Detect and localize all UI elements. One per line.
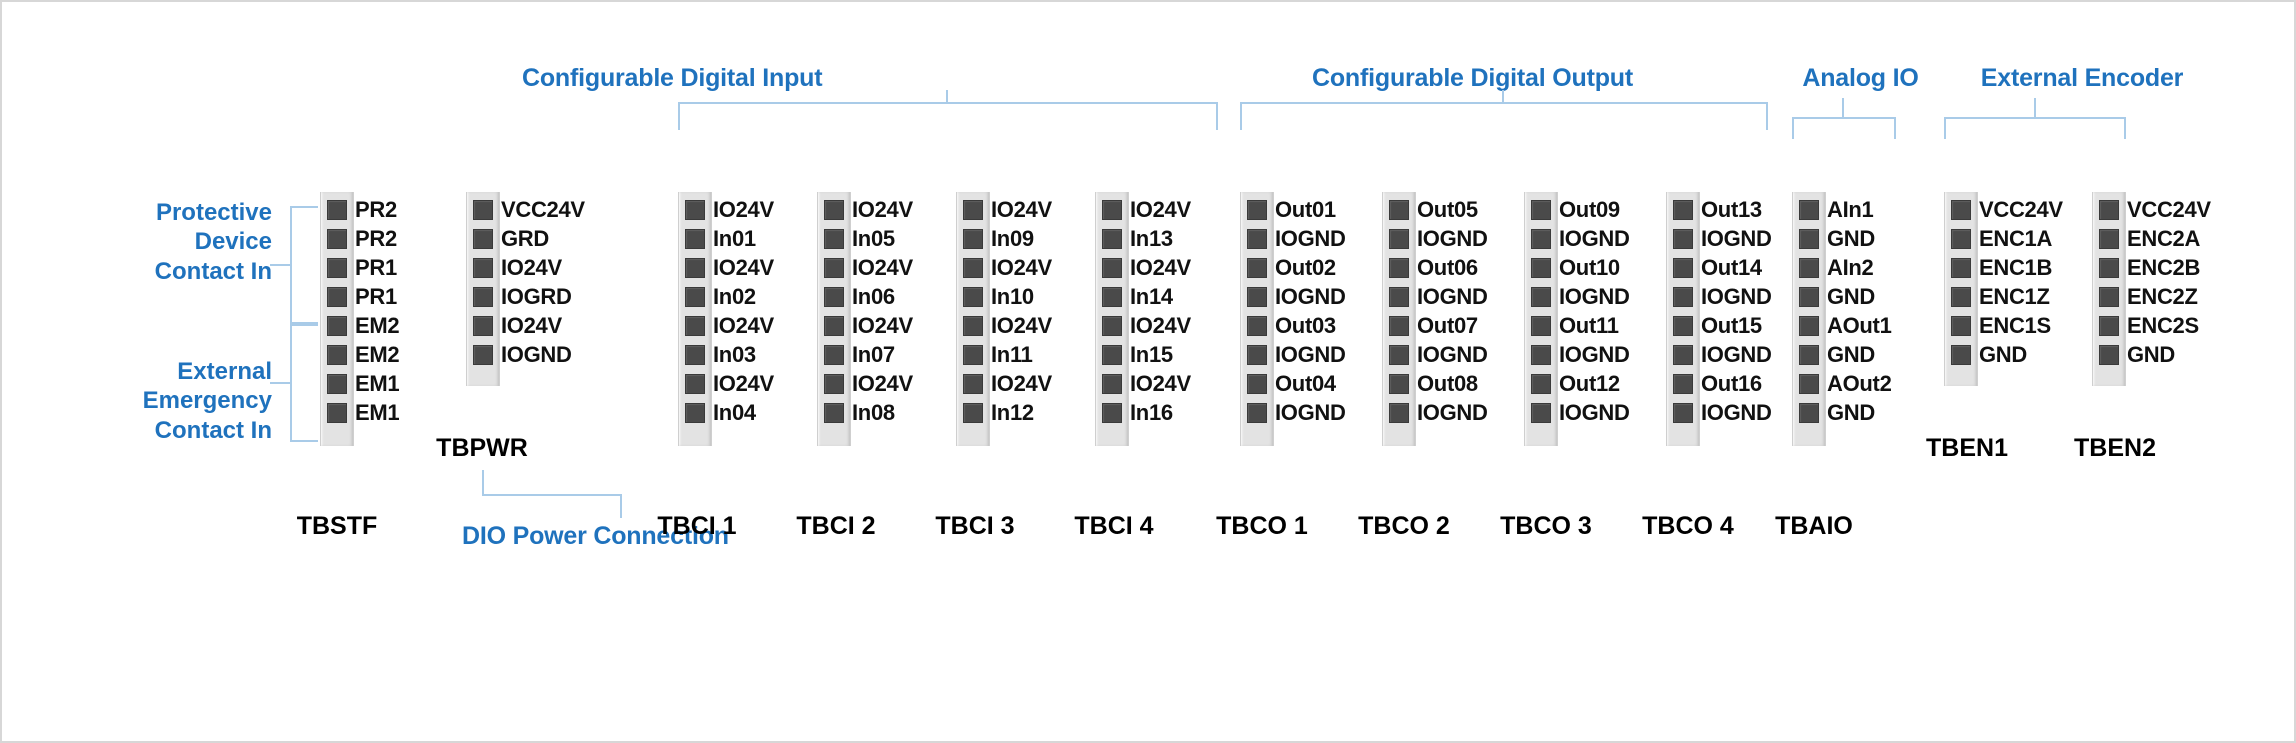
pin-label: IO24V <box>991 313 1052 339</box>
pin-row[interactable]: In04 <box>679 398 711 427</box>
pin-row[interactable]: PR2 <box>321 195 353 224</box>
pin-label: GND <box>1827 342 1875 368</box>
terminal-pin-icon[interactable] <box>473 345 493 365</box>
pin-row[interactable]: IO24V <box>818 253 850 282</box>
pin-row[interactable]: ENC1B <box>1945 253 1977 282</box>
terminal-pin-icon[interactable] <box>685 229 705 249</box>
pin-row[interactable]: IOGND <box>467 340 499 369</box>
terminal-block-tbstf[interactable]: PR2PR2PR1PR1EM2EM2EM1EM1 <box>320 192 354 446</box>
terminal-pin-icon[interactable] <box>1799 258 1819 278</box>
pin-row[interactable]: In09 <box>957 224 989 253</box>
terminal-pin-icon[interactable] <box>2099 287 2119 307</box>
pin-label: PR2 <box>355 197 397 223</box>
pin-row[interactable]: In01 <box>679 224 711 253</box>
caption-tbci2: TBCI 2 <box>766 512 906 541</box>
pin-row[interactable]: In10 <box>957 282 989 311</box>
pin-label: In13 <box>1130 226 1173 252</box>
pin-label: IO24V <box>1130 255 1191 281</box>
pin-row[interactable]: ENC2S <box>2093 311 2125 340</box>
terminal-pin-icon[interactable] <box>1247 258 1267 278</box>
pin-label: In08 <box>852 400 895 426</box>
pin-label: IO24V <box>713 371 774 397</box>
terminal-pin-icon[interactable] <box>824 374 844 394</box>
pin-label: IOGND <box>1417 284 1488 310</box>
pin-row[interactable]: IO24V <box>467 311 499 340</box>
pin-row[interactable]: Out15 <box>1667 311 1699 340</box>
terminal-pin-icon[interactable] <box>1951 258 1971 278</box>
terminal-pin-icon[interactable] <box>685 258 705 278</box>
terminal-pin-icon[interactable] <box>473 287 493 307</box>
terminal-pin-icon[interactable] <box>1531 229 1551 249</box>
caption-tbci1: TBCI 1 <box>627 512 767 541</box>
terminal-pin-icon[interactable] <box>327 374 347 394</box>
pin-label: IO24V <box>713 197 774 223</box>
pin-label: EM2 <box>355 342 399 368</box>
pin-label: Out01 <box>1275 197 1336 223</box>
terminal-pin-icon[interactable] <box>1531 287 1551 307</box>
pin-row[interactable]: IO24V <box>1096 311 1128 340</box>
pin-row[interactable]: IO24V <box>467 253 499 282</box>
pin-row[interactable]: IOGND <box>1667 340 1699 369</box>
terminal-pin-icon[interactable] <box>2099 200 2119 220</box>
pin-row[interactable]: ENC2Z <box>2093 282 2125 311</box>
terminal-pin-icon[interactable] <box>1247 316 1267 336</box>
terminal-block-tbci2[interactable]: IO24VIn05IO24VIn06IO24VIn07IO24VIn08 <box>817 192 851 446</box>
pin-row[interactable]: IOGND <box>1383 282 1415 311</box>
terminal-pin-icon[interactable] <box>1799 403 1819 423</box>
terminal-pin-icon[interactable] <box>327 287 347 307</box>
pin-row[interactable]: GRD <box>467 224 499 253</box>
pin-label: In03 <box>713 342 756 368</box>
terminal-pin-icon[interactable] <box>1389 403 1409 423</box>
terminal-pin-icon[interactable] <box>1389 200 1409 220</box>
pin-row[interactable]: IOGND <box>1667 398 1699 427</box>
terminal-pin-icon[interactable] <box>473 200 493 220</box>
pin-row[interactable]: Out12 <box>1525 369 1557 398</box>
terminal-pin-icon[interactable] <box>824 200 844 220</box>
pin-row[interactable]: In07 <box>818 340 850 369</box>
caption-tbco1: TBCO 1 <box>1187 512 1337 541</box>
terminal-pin-icon[interactable] <box>1389 316 1409 336</box>
pin-label: In05 <box>852 226 895 252</box>
pin-row[interactable]: IOGND <box>1241 398 1273 427</box>
terminal-pin-icon[interactable] <box>1673 345 1693 365</box>
pin-row[interactable]: Out10 <box>1525 253 1557 282</box>
pin-label: IO24V <box>991 197 1052 223</box>
terminal-pin-icon[interactable] <box>1102 403 1122 423</box>
terminal-pin-icon[interactable] <box>963 345 983 365</box>
terminal-pin-icon[interactable] <box>1102 345 1122 365</box>
terminal-block-tben1[interactable]: VCC24VENC1AENC1BENC1ZENC1SGND <box>1944 192 1978 386</box>
terminal-pin-icon[interactable] <box>685 403 705 423</box>
pin-label: IO24V <box>852 313 913 339</box>
pin-row[interactable]: ENC1S <box>1945 311 1977 340</box>
pin-row[interactable]: VCC24V <box>1945 195 1977 224</box>
terminal-pin-icon[interactable] <box>685 200 705 220</box>
pin-label: Out08 <box>1417 371 1478 397</box>
terminal-pin-icon[interactable] <box>2099 345 2119 365</box>
pin-label: IO24V <box>852 371 913 397</box>
pin-label: Out05 <box>1417 197 1478 223</box>
terminal-pin-icon[interactable] <box>1951 229 1971 249</box>
pin-row[interactable]: Out05 <box>1383 195 1415 224</box>
terminal-pin-icon[interactable] <box>963 403 983 423</box>
pin-label: Out02 <box>1275 255 1336 281</box>
pin-row[interactable]: IOGND <box>1525 398 1557 427</box>
pin-row[interactable]: IOGND <box>1525 340 1557 369</box>
terminal-block-tben2[interactable]: VCC24VENC2AENC2BENC2ZENC2SGND <box>2092 192 2126 386</box>
pin-row[interactable]: ENC2A <box>2093 224 2125 253</box>
terminal-block-tbci1[interactable]: IO24VIn01IO24VIn02IO24VIn03IO24VIn04 <box>678 192 712 446</box>
terminal-pin-icon[interactable] <box>473 258 493 278</box>
pin-row[interactable]: In03 <box>679 340 711 369</box>
pin-row[interactable]: Out11 <box>1525 311 1557 340</box>
pin-row[interactable]: IOGRD <box>467 282 499 311</box>
terminal-pin-icon[interactable] <box>1389 345 1409 365</box>
pin-label: PR2 <box>355 226 397 252</box>
pin-label: GND <box>2127 342 2175 368</box>
pin-label: AIn1 <box>1827 197 1873 223</box>
side-label-protective-device-contact-in: Protective Device Contact In <box>72 198 272 286</box>
terminal-pin-icon[interactable] <box>1799 316 1819 336</box>
pin-row[interactable]: IO24V <box>1096 369 1128 398</box>
terminal-pin-icon[interactable] <box>2099 258 2119 278</box>
pin-label: In12 <box>991 400 1034 426</box>
terminal-pin-icon[interactable] <box>963 258 983 278</box>
pin-row[interactable]: IO24V <box>957 369 989 398</box>
pin-row[interactable]: IOGND <box>1241 340 1273 369</box>
pin-label: IOGND <box>1275 284 1346 310</box>
pin-row[interactable]: IOGND <box>1667 282 1699 311</box>
pin-row[interactable]: AOut1 <box>1793 311 1825 340</box>
pin-row[interactable]: IOGND <box>1241 282 1273 311</box>
pin-row[interactable]: Out03 <box>1241 311 1273 340</box>
pin-label: ENC2B <box>2127 255 2200 281</box>
terminal-pin-icon[interactable] <box>1389 229 1409 249</box>
pin-row[interactable]: IO24V <box>679 195 711 224</box>
pin-row[interactable]: IOGND <box>1383 398 1415 427</box>
terminal-pin-icon[interactable] <box>1951 287 1971 307</box>
pin-row[interactable]: In15 <box>1096 340 1128 369</box>
pin-row[interactable]: PR1 <box>321 282 353 311</box>
pin-row[interactable]: IO24V <box>957 311 989 340</box>
terminal-pin-icon[interactable] <box>685 316 705 336</box>
pin-row[interactable]: ENC2B <box>2093 253 2125 282</box>
pin-label: Out03 <box>1275 313 1336 339</box>
terminal-pin-icon[interactable] <box>1102 287 1122 307</box>
terminal-pin-icon[interactable] <box>1673 316 1693 336</box>
pin-label: In15 <box>1130 342 1173 368</box>
terminal-pin-icon[interactable] <box>1247 374 1267 394</box>
terminal-block-tbco1[interactable]: Out01IOGNDOut02IOGNDOut03IOGNDOut04IOGND <box>1240 192 1274 446</box>
pin-row[interactable]: In05 <box>818 224 850 253</box>
pin-row[interactable]: Out04 <box>1241 369 1273 398</box>
terminal-pin-icon[interactable] <box>1389 258 1409 278</box>
pin-row[interactable]: EM2 <box>321 311 353 340</box>
pin-row[interactable]: ENC1Z <box>1945 282 1977 311</box>
pin-row[interactable]: IO24V <box>818 195 850 224</box>
terminal-pin-icon[interactable] <box>2099 229 2119 249</box>
pin-label: VCC24V <box>501 197 585 223</box>
pin-row[interactable]: IO24V <box>679 253 711 282</box>
pin-label: In09 <box>991 226 1034 252</box>
pin-label: In11 <box>991 342 1033 368</box>
pin-label: IO24V <box>1130 313 1191 339</box>
pin-row[interactable]: VCC24V <box>467 195 499 224</box>
terminal-pin-icon[interactable] <box>1102 258 1122 278</box>
caption-tbci3: TBCI 3 <box>905 512 1045 541</box>
pin-row[interactable]: IO24V <box>818 369 850 398</box>
pin-label: Out16 <box>1701 371 1762 397</box>
terminal-pin-icon[interactable] <box>1531 403 1551 423</box>
terminal-pin-icon[interactable] <box>963 374 983 394</box>
terminal-block-diagram: Configurable Digital Input Configurable … <box>0 0 2296 743</box>
pin-label: IO24V <box>852 255 913 281</box>
terminal-pin-icon[interactable] <box>1102 229 1122 249</box>
group-header-analog-io: Analog IO <box>1788 64 1933 94</box>
terminal-pin-icon[interactable] <box>473 229 493 249</box>
pin-row[interactable]: In02 <box>679 282 711 311</box>
pin-row[interactable]: Out14 <box>1667 253 1699 282</box>
pin-label: In06 <box>852 284 895 310</box>
pin-row[interactable]: Out01 <box>1241 195 1273 224</box>
pin-row[interactable]: GND <box>1793 398 1825 427</box>
pin-label: IOGND <box>1417 342 1488 368</box>
pin-row[interactable]: In13 <box>1096 224 1128 253</box>
pin-label: Out15 <box>1701 313 1762 339</box>
terminal-pin-icon[interactable] <box>1389 374 1409 394</box>
pin-row[interactable]: GND <box>1793 224 1825 253</box>
pin-row[interactable]: In11 <box>957 340 989 369</box>
pin-label: ENC1A <box>1979 226 2052 252</box>
terminal-pin-icon[interactable] <box>1247 229 1267 249</box>
pin-label: Out06 <box>1417 255 1478 281</box>
terminal-pin-icon[interactable] <box>1247 345 1267 365</box>
pin-label: PR1 <box>355 255 397 281</box>
pin-label: IO24V <box>501 255 562 281</box>
pin-label: ENC1B <box>1979 255 2052 281</box>
pin-label: IOGND <box>1701 400 1772 426</box>
pin-row[interactable]: EM2 <box>321 340 353 369</box>
terminal-pin-icon[interactable] <box>1531 345 1551 365</box>
pin-label: IOGND <box>1701 284 1772 310</box>
terminal-pin-icon[interactable] <box>824 287 844 307</box>
pin-label: IOGND <box>1417 226 1488 252</box>
pin-label: In14 <box>1130 284 1173 310</box>
terminal-pin-icon[interactable] <box>824 345 844 365</box>
terminal-pin-icon[interactable] <box>1673 229 1693 249</box>
terminal-pin-icon[interactable] <box>1247 287 1267 307</box>
terminal-pin-icon[interactable] <box>1673 200 1693 220</box>
pin-row[interactable]: In06 <box>818 282 850 311</box>
terminal-pin-icon[interactable] <box>1673 403 1693 423</box>
terminal-pin-icon[interactable] <box>473 316 493 336</box>
pin-row[interactable]: Out13 <box>1667 195 1699 224</box>
pin-row[interactable]: IO24V <box>1096 253 1128 282</box>
pin-label: Out04 <box>1275 371 1336 397</box>
pin-label: IOGND <box>1559 342 1630 368</box>
pin-label: AOut1 <box>1827 313 1892 339</box>
pin-row[interactable]: IOGND <box>1383 224 1415 253</box>
terminal-block-tbaio[interactable]: AIn1GNDAIn2GNDAOut1GNDAOut2GND <box>1792 192 1826 446</box>
caption-tbstf: TBSTF <box>267 512 407 541</box>
pin-row[interactable]: IOGND <box>1383 340 1415 369</box>
terminal-pin-icon[interactable] <box>1799 345 1819 365</box>
terminal-pin-icon[interactable] <box>824 258 844 278</box>
terminal-pin-icon[interactable] <box>1799 374 1819 394</box>
pin-row[interactable]: VCC24V <box>2093 195 2125 224</box>
pin-row[interactable]: GND <box>1945 340 1977 369</box>
terminal-block-tbco4[interactable]: Out13IOGNDOut14IOGNDOut15IOGNDOut16IOGND <box>1666 192 1700 446</box>
pin-row[interactable]: Out06 <box>1383 253 1415 282</box>
pin-row[interactable]: GND <box>1793 340 1825 369</box>
pin-label: Out07 <box>1417 313 1478 339</box>
pin-label: Out09 <box>1559 197 1620 223</box>
pin-label: IOGND <box>1559 400 1630 426</box>
terminal-pin-icon[interactable] <box>1531 316 1551 336</box>
pin-row[interactable]: IO24V <box>818 311 850 340</box>
pin-label: Out10 <box>1559 255 1620 281</box>
terminal-pin-icon[interactable] <box>824 316 844 336</box>
pin-row[interactable]: IOGND <box>1667 224 1699 253</box>
pin-label: IO24V <box>501 313 562 339</box>
pin-label: GND <box>1827 226 1875 252</box>
terminal-pin-icon[interactable] <box>1951 200 1971 220</box>
terminal-pin-icon[interactable] <box>1951 345 1971 365</box>
pin-label: GRD <box>501 226 549 252</box>
terminal-pin-icon[interactable] <box>327 258 347 278</box>
terminal-pin-icon[interactable] <box>685 374 705 394</box>
terminal-pin-icon[interactable] <box>1247 403 1267 423</box>
pin-label: In07 <box>852 342 895 368</box>
pin-label: In16 <box>1130 400 1173 426</box>
pin-row[interactable]: ENC1A <box>1945 224 1977 253</box>
pin-row[interactable]: Out09 <box>1525 195 1557 224</box>
pin-label: EM1 <box>355 371 399 397</box>
pin-label: IOGND <box>501 342 572 368</box>
pin-label: IO24V <box>1130 197 1191 223</box>
terminal-pin-icon[interactable] <box>963 316 983 336</box>
terminal-pin-icon[interactable] <box>824 229 844 249</box>
terminal-pin-icon[interactable] <box>1799 287 1819 307</box>
pin-row[interactable]: AOut2 <box>1793 369 1825 398</box>
pin-label: IOGND <box>1275 342 1346 368</box>
caption-tbaio: TBAIO <box>1739 512 1889 541</box>
terminal-pin-icon[interactable] <box>1531 258 1551 278</box>
terminal-pin-icon[interactable] <box>1531 200 1551 220</box>
pin-label: GND <box>1979 342 2027 368</box>
group-header-configurable-digital-input: Configurable Digital Input <box>522 64 772 94</box>
terminal-pin-icon[interactable] <box>963 200 983 220</box>
pin-row[interactable]: EM1 <box>321 398 353 427</box>
side-label-external-emergency-contact-in: External Emergency Contact In <box>72 357 272 445</box>
terminal-pin-icon[interactable] <box>1247 200 1267 220</box>
pin-label: IOGND <box>1701 342 1772 368</box>
pin-row[interactable]: In08 <box>818 398 850 427</box>
terminal-pin-icon[interactable] <box>963 287 983 307</box>
pin-row[interactable]: IOGND <box>1525 224 1557 253</box>
terminal-pin-icon[interactable] <box>327 316 347 336</box>
pin-label: IOGND <box>1417 400 1488 426</box>
pin-label: IOGND <box>1275 400 1346 426</box>
terminal-pin-icon[interactable] <box>685 287 705 307</box>
pin-label: PR1 <box>355 284 397 310</box>
terminal-pin-icon[interactable] <box>963 229 983 249</box>
terminal-pin-icon[interactable] <box>1799 200 1819 220</box>
pin-label: Out13 <box>1701 197 1762 223</box>
pin-row[interactable]: IO24V <box>679 311 711 340</box>
pin-label: IOGND <box>1559 226 1630 252</box>
pin-row[interactable]: IOGND <box>1525 282 1557 311</box>
terminal-pin-icon[interactable] <box>327 229 347 249</box>
pin-label: In04 <box>713 400 756 426</box>
pin-row[interactable]: IO24V <box>957 195 989 224</box>
terminal-block-tbco2[interactable]: Out05IOGNDOut06IOGNDOut07IOGNDOut08IOGND <box>1382 192 1416 446</box>
terminal-pin-icon[interactable] <box>2099 316 2119 336</box>
terminal-pin-icon[interactable] <box>1102 374 1122 394</box>
terminal-pin-icon[interactable] <box>1389 287 1409 307</box>
pin-row[interactable]: IOGND <box>1241 224 1273 253</box>
terminal-pin-icon[interactable] <box>1102 200 1122 220</box>
pin-row[interactable]: In16 <box>1096 398 1128 427</box>
terminal-block-tbci3[interactable]: IO24VIn09IO24VIn10IO24VIn11IO24VIn12 <box>956 192 990 446</box>
pin-label: EM1 <box>355 400 399 426</box>
pin-label: GND <box>1827 400 1875 426</box>
pin-row[interactable]: PR1 <box>321 253 353 282</box>
pin-label: AOut2 <box>1827 371 1892 397</box>
pin-row[interactable]: IO24V <box>1096 195 1128 224</box>
terminal-pin-icon[interactable] <box>1673 374 1693 394</box>
pin-row[interactable]: Out16 <box>1667 369 1699 398</box>
pin-row[interactable]: EM1 <box>321 369 353 398</box>
terminal-pin-icon[interactable] <box>1951 316 1971 336</box>
terminal-pin-icon[interactable] <box>824 403 844 423</box>
terminal-pin-icon[interactable] <box>1531 374 1551 394</box>
pin-row[interactable]: PR2 <box>321 224 353 253</box>
pin-row[interactable]: GND <box>2093 340 2125 369</box>
pin-row[interactable]: IO24V <box>957 253 989 282</box>
pin-row[interactable]: Out08 <box>1383 369 1415 398</box>
pin-row[interactable]: IO24V <box>679 369 711 398</box>
pin-row[interactable]: In12 <box>957 398 989 427</box>
pin-label: IOGND <box>1559 284 1630 310</box>
terminal-pin-icon[interactable] <box>327 345 347 365</box>
terminal-pin-icon[interactable] <box>1799 229 1819 249</box>
terminal-pin-icon[interactable] <box>1673 287 1693 307</box>
caption-tbci4: TBCI 4 <box>1044 512 1184 541</box>
pin-label: IO24V <box>991 255 1052 281</box>
group-header-external-encoder: External Encoder <box>1957 64 2207 94</box>
pin-row[interactable]: GND <box>1793 282 1825 311</box>
pin-row[interactable]: AIn1 <box>1793 195 1825 224</box>
terminal-pin-icon[interactable] <box>1102 316 1122 336</box>
pin-label: Out12 <box>1559 371 1620 397</box>
caption-tbco3: TBCO 3 <box>1471 512 1621 541</box>
pin-row[interactable]: Out02 <box>1241 253 1273 282</box>
pin-row[interactable]: In14 <box>1096 282 1128 311</box>
terminal-pin-icon[interactable] <box>685 345 705 365</box>
terminal-pin-icon[interactable] <box>327 403 347 423</box>
terminal-block-tbco3[interactable]: Out09IOGNDOut10IOGNDOut11IOGNDOut12IOGND <box>1524 192 1558 446</box>
terminal-block-tbci4[interactable]: IO24VIn13IO24VIn14IO24VIn15IO24VIn16 <box>1095 192 1129 446</box>
terminal-pin-icon[interactable] <box>327 200 347 220</box>
pin-row[interactable]: Out07 <box>1383 311 1415 340</box>
pin-label: Out11 <box>1559 313 1619 339</box>
terminal-block-tbpwr[interactable]: VCC24VGRDIO24VIOGRDIO24VIOGND <box>466 192 500 386</box>
pin-row[interactable]: AIn2 <box>1793 253 1825 282</box>
terminal-pin-icon[interactable] <box>1673 258 1693 278</box>
pin-label: In02 <box>713 284 756 310</box>
